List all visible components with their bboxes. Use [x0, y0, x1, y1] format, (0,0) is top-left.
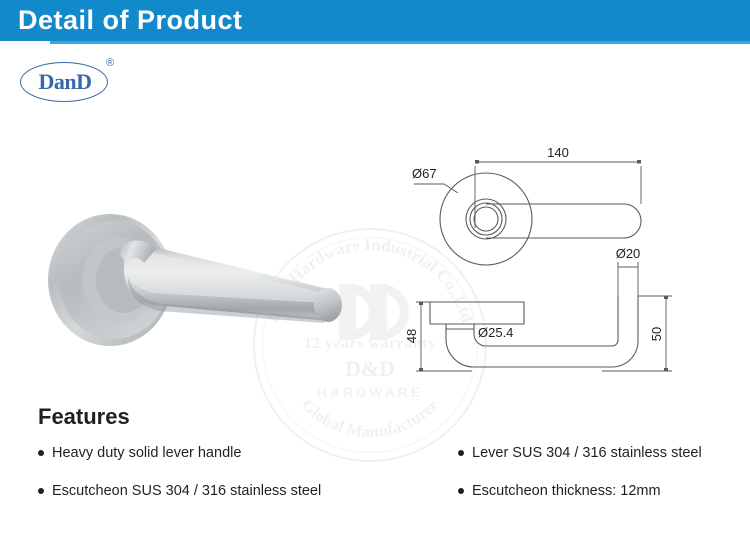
dim50-tick-top [664, 296, 668, 299]
features-column-left: Heavy duty solid lever handle Escutcheon… [38, 444, 438, 520]
dimension-grip-d20: Ø20 [616, 246, 641, 261]
dim50-tick-bottom [664, 368, 668, 371]
feature-text: Heavy duty solid lever handle [52, 444, 241, 462]
side-view-lever-outer [446, 296, 638, 367]
logo-brand-text: DanD [26, 68, 104, 96]
top-view-neck-ring-inner [474, 207, 498, 231]
feature-text: Lever SUS 304 / 316 stainless steel [472, 444, 702, 462]
top-view-lever [486, 204, 641, 238]
top-view-neck-ring-outer [466, 199, 506, 239]
top-dim-tick-left [475, 160, 479, 164]
registered-trademark-icon: ® [106, 58, 114, 69]
top-view-rosette [440, 173, 532, 265]
header-underline [50, 41, 750, 44]
monogram-stem-right [370, 284, 387, 340]
bullet-icon [38, 450, 44, 456]
feature-text: Escutcheon SUS 304 / 316 stainless steel [52, 482, 321, 500]
rosette-leader-line [414, 184, 458, 193]
side-view-escutcheon [430, 302, 524, 324]
feature-item: Escutcheon thickness: 12mm [458, 482, 748, 500]
features-heading: Features [38, 404, 130, 430]
dimension-length-140: 140 [547, 145, 569, 160]
page-title: Detail of Product [18, 5, 243, 36]
dim48-tick-bottom [419, 368, 423, 371]
technical-drawings: 140 Ø67 [396, 136, 744, 402]
brand-logo: DanD ® [18, 56, 138, 108]
dim48-tick-top [419, 302, 423, 305]
top-dim-tick-right [637, 160, 641, 164]
features-column-right: Lever SUS 304 / 316 stainless steel Escu… [458, 444, 748, 520]
bullet-icon [458, 488, 464, 494]
dimension-height-48: 48 [404, 329, 419, 343]
feature-item: Heavy duty solid lever handle [38, 444, 438, 462]
lever-end-cap [314, 288, 342, 322]
bullet-icon [38, 488, 44, 494]
dimension-neck-d254: Ø25.4 [478, 325, 513, 340]
dimension-projection-50: 50 [649, 327, 664, 341]
feature-item: Escutcheon SUS 304 / 316 stainless steel [38, 482, 438, 500]
dimension-rosette-d67: Ø67 [412, 166, 437, 181]
product-photo [28, 185, 358, 365]
bullet-icon [458, 450, 464, 456]
feature-text: Escutcheon thickness: 12mm [472, 482, 661, 500]
feature-item: Lever SUS 304 / 316 stainless steel [458, 444, 748, 462]
